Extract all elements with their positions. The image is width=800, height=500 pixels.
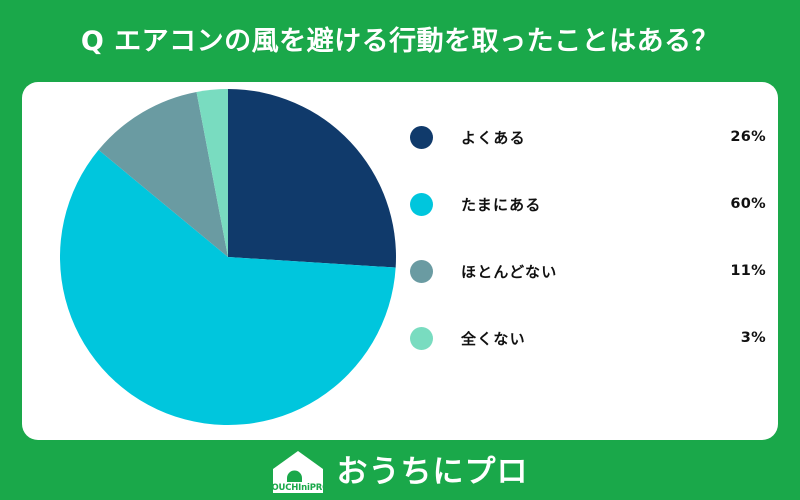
legend-label-0: よくある: [461, 127, 526, 148]
content-card: よくある 26% たまにある 60% ほとんどない 11% 全くない 3%: [22, 82, 778, 440]
legend-dot-mattaku-nai: [410, 327, 433, 350]
page-title: Q エアコンの風を避ける行動を取ったことはある？: [81, 28, 719, 55]
legend-label-2: ほとんどない: [461, 261, 557, 282]
legend-item-0[interactable]: よくある 26%: [410, 122, 766, 152]
house-icon: OUCHIniPRO: [272, 450, 324, 494]
legend-percent-3: 3%: [741, 330, 766, 346]
footer-brand: OUCHIniPRO おうちにプロ: [0, 444, 800, 500]
legend-label-3: 全くない: [461, 328, 526, 349]
legend-percent-1: 60%: [730, 196, 766, 212]
title-bar: Q エアコンの風を避ける行動を取ったことはある？: [0, 0, 800, 82]
legend-item-3[interactable]: 全くない 3%: [410, 323, 766, 353]
pie-slice-group: [60, 89, 396, 425]
legend: よくある 26% たまにある 60% ほとんどない 11% 全くない 3%: [410, 100, 766, 422]
logo-badge-text: OUCHIniPRO: [272, 484, 324, 493]
legend-dot-yoku-aru: [410, 126, 433, 149]
brand-wordmark: おうちにプロ: [337, 457, 529, 488]
legend-dot-hotondo-nai: [410, 260, 433, 283]
legend-dot-tamani-aru: [410, 193, 433, 216]
legend-item-2[interactable]: ほとんどない 11%: [410, 256, 766, 286]
legend-label-1: たまにある: [461, 194, 542, 215]
pie-chart-svg: [50, 87, 406, 435]
legend-percent-2: 11%: [730, 263, 766, 279]
poster-root: Q エアコンの風を避ける行動を取ったことはある？ よくある 26% たまにある …: [0, 0, 800, 500]
legend-item-1[interactable]: たまにある 60%: [410, 189, 766, 219]
legend-percent-0: 26%: [730, 129, 766, 145]
pie-slice-0[interactable]: [228, 89, 396, 268]
pie-chart: [50, 87, 406, 435]
